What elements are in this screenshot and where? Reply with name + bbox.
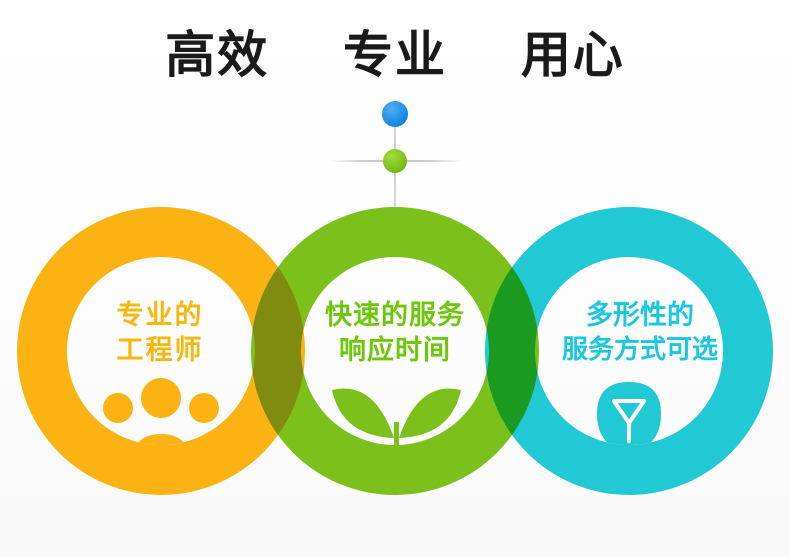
circle-label-response: 快速的服务 响应时间 — [295, 298, 495, 367]
venn-ring-group — [0, 0, 790, 557]
circle-label-service-modes: 多形性的 服务方式可选 — [530, 298, 750, 366]
circle-label-line-1: 专业的 — [60, 298, 260, 333]
circle-label-engineers: 专业的 工程师 — [60, 298, 260, 367]
overlap-green-cyan — [0, 0, 790, 557]
circle-label-line-2: 服务方式可选 — [530, 333, 750, 366]
poster-canvas: 高效 专业 用心 — [0, 0, 790, 557]
circle-label-line-2: 响应时间 — [295, 333, 495, 368]
circle-label-line-1: 快速的服务 — [295, 298, 495, 333]
circle-label-line-1: 多形性的 — [530, 298, 750, 333]
circle-label-line-2: 工程师 — [60, 333, 260, 368]
